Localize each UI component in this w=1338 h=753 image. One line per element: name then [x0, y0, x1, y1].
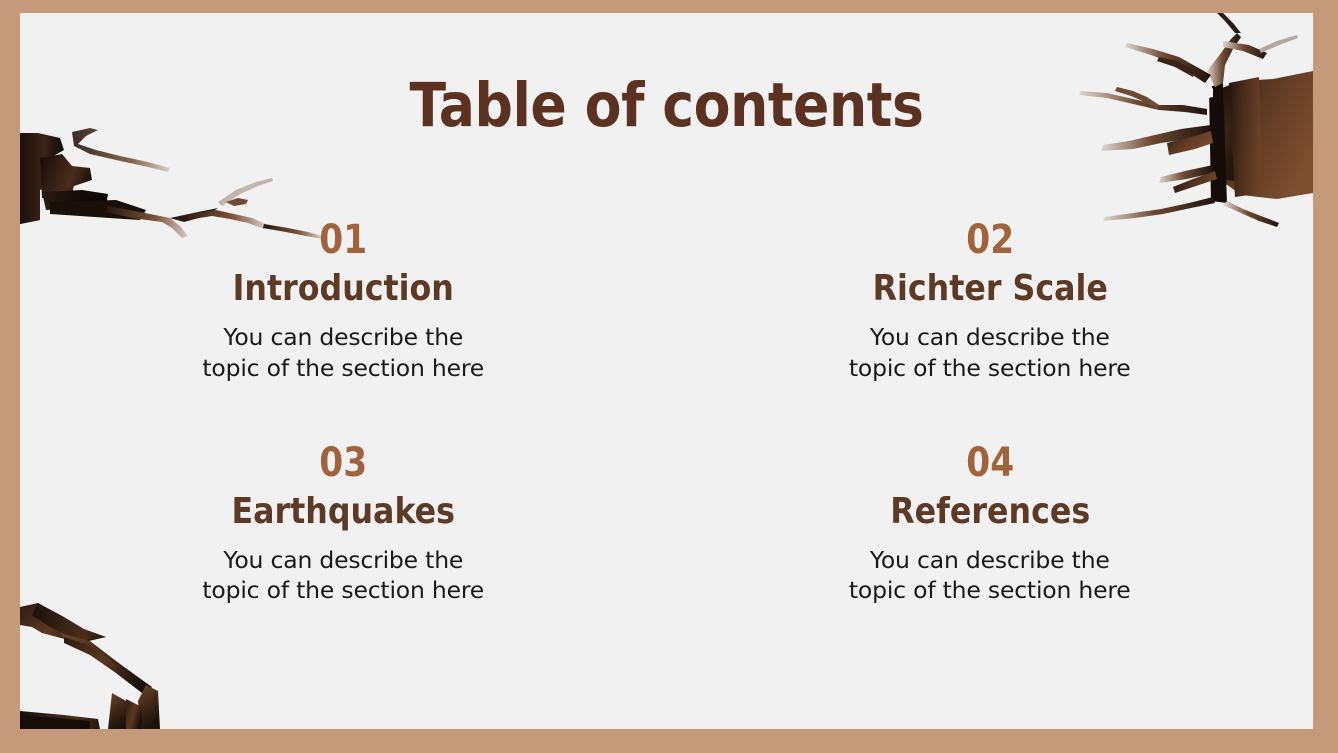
toc-description-line-1: You can describe the [60, 322, 627, 353]
toc-description-line-2: topic of the section here [707, 575, 1274, 606]
toc-description-line-2: topic of the section here [60, 575, 627, 606]
toc-description: You can describe the topic of the sectio… [60, 322, 627, 384]
toc-description-line-1: You can describe the [707, 545, 1274, 576]
toc-heading: Introduction [94, 266, 593, 311]
table-of-contents-grid: 01 Introduction You can describe the top… [20, 218, 1313, 606]
toc-description: You can describe the topic of the sectio… [60, 545, 627, 607]
toc-item-03[interactable]: 03 Earthquakes You can describe the topi… [20, 441, 667, 607]
slide-canvas: Table of contents 01 Introduction You ca… [0, 0, 1338, 753]
toc-heading: Richter Scale [740, 266, 1239, 311]
toc-description-line-2: topic of the section here [60, 353, 627, 384]
slide-page: Table of contents 01 Introduction You ca… [20, 13, 1313, 729]
toc-number: 01 [100, 218, 587, 262]
toc-item-04[interactable]: 04 References You can describe the topic… [667, 441, 1314, 607]
toc-description-line-2: topic of the section here [707, 353, 1274, 384]
toc-heading: Earthquakes [94, 489, 593, 534]
toc-description-line-1: You can describe the [60, 545, 627, 576]
toc-item-02[interactable]: 02 Richter Scale You can describe the to… [667, 218, 1314, 384]
page-title: Table of contents [98, 75, 1236, 136]
toc-heading: References [740, 489, 1239, 534]
toc-description-line-1: You can describe the [707, 322, 1274, 353]
toc-description: You can describe the topic of the sectio… [707, 545, 1274, 607]
toc-number: 03 [100, 441, 587, 485]
toc-item-01[interactable]: 01 Introduction You can describe the top… [20, 218, 667, 384]
toc-number: 02 [746, 218, 1233, 262]
toc-description: You can describe the topic of the sectio… [707, 322, 1274, 384]
toc-number: 04 [746, 441, 1233, 485]
